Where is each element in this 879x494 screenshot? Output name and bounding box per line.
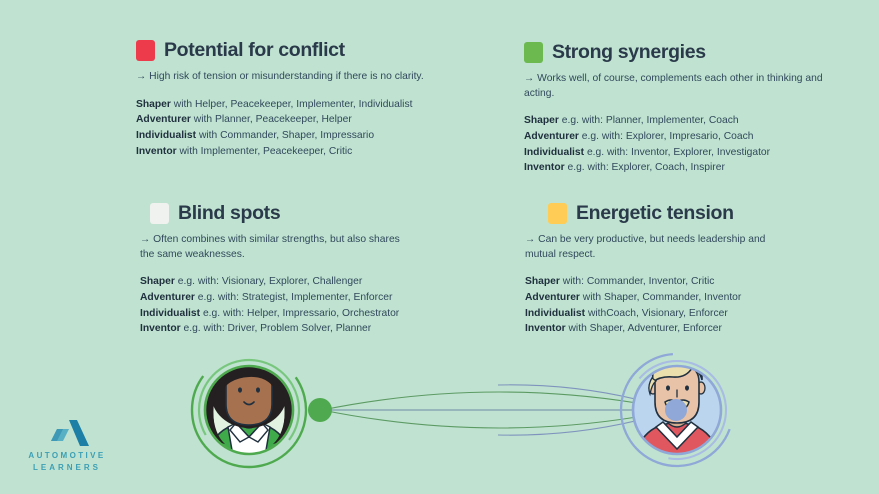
- list-item: Inventor e.g. with: Explorer, Coach, Ins…: [524, 160, 826, 176]
- list-item: Shaper with Helper, Peacekeeper, Impleme…: [136, 97, 424, 113]
- yellow-swatch: [548, 203, 567, 224]
- connector-lines: [322, 385, 675, 435]
- quadrant-pair-list: Shaper e.g. with: Planner, Implementer, …: [524, 113, 826, 176]
- green-swatch: [524, 42, 543, 63]
- role-detail: with Planner, Peacekeeper, Helper: [191, 114, 352, 125]
- role-name: Individualist: [525, 308, 585, 319]
- list-item: Individualist e.g. with: Inventor, Explo…: [524, 145, 826, 161]
- role-name: Individualist: [136, 130, 196, 141]
- role-detail: e.g. with: Helper, Impressario, Orchestr…: [200, 308, 399, 319]
- role-name: Individualist: [140, 308, 200, 319]
- automotive-learners-logo: AUTOMOTIVE LEARNERS: [24, 418, 110, 473]
- list-item: Inventor e.g. with: Driver, Problem Solv…: [140, 321, 412, 337]
- role-detail: e.g. with: Planner, Implementer, Coach: [559, 115, 739, 126]
- logo-mark-icon: [43, 418, 91, 450]
- role-detail: with Commander, Shaper, Impressario: [196, 130, 374, 141]
- role-name: Adventurer: [525, 292, 580, 303]
- quadrant-pair-list: Shaper e.g. with: Visionary, Explorer, C…: [140, 274, 412, 337]
- quadrant-energetic-tension: Energetic tension → Can be very producti…: [548, 203, 797, 337]
- white-swatch: [150, 203, 169, 224]
- role-detail: with Implementer, Peacekeeper, Critic: [177, 146, 353, 157]
- quadrant-pair-list: Shaper with Helper, Peacekeeper, Impleme…: [136, 97, 424, 160]
- role-name: Shaper: [524, 115, 559, 126]
- role-detail: e.g. with: Visionary, Explorer, Challeng…: [175, 276, 362, 287]
- quadrant-header: Potential for conflict: [136, 40, 424, 61]
- role-name: Inventor: [524, 162, 565, 173]
- logo-text-line2: LEARNERS: [24, 462, 110, 474]
- role-name: Shaper: [525, 276, 560, 287]
- list-item: Adventurer with Planner, Peacekeeper, He…: [136, 112, 424, 128]
- role-name: Adventurer: [140, 292, 195, 303]
- role-detail: withCoach, Visionary, Enforcer: [585, 308, 728, 319]
- list-item: Individualist e.g. with: Helper, Impress…: [140, 306, 412, 322]
- slide-canvas: Potential for conflict → High risk of te…: [0, 0, 879, 494]
- list-item: Shaper e.g. with: Planner, Implementer, …: [524, 113, 826, 129]
- quadrant-title: Energetic tension: [576, 204, 734, 224]
- role-detail: e.g. with: Explorer, Impresario, Coach: [579, 131, 754, 142]
- role-detail: e.g. with: Strategist, Implementer, Enfo…: [195, 292, 392, 303]
- role-detail: with Helper, Peacekeeper, Implementer, I…: [171, 99, 413, 110]
- list-item: Individualist with Commander, Shaper, Im…: [136, 128, 424, 144]
- quadrant-title: Potential for conflict: [164, 41, 345, 61]
- connection-illustration: [0, 338, 879, 494]
- quadrant-potential-for-conflict: Potential for conflict → High risk of te…: [136, 40, 424, 159]
- quadrant-strong-synergies: Strong synergies → Works well, of course…: [524, 42, 826, 176]
- quadrant-header: Energetic tension: [548, 203, 797, 224]
- role-name: Adventurer: [136, 114, 191, 125]
- list-item: Adventurer e.g. with: Explorer, Impresar…: [524, 129, 826, 145]
- role-name: Adventurer: [524, 131, 579, 142]
- role-detail: e.g. with: Inventor, Explorer, Investiga…: [584, 147, 770, 158]
- role-detail: with Shaper, Adventurer, Enforcer: [566, 323, 722, 334]
- role-detail: e.g. with: Driver, Problem Solver, Plann…: [181, 323, 372, 334]
- quadrant-subtitle: → High risk of tension or misunderstandi…: [136, 70, 424, 85]
- quadrant-blind-spots: Blind spots → Often combines with simila…: [150, 203, 412, 337]
- left-connector-node: [308, 398, 332, 422]
- role-name: Shaper: [136, 99, 171, 110]
- role-name: Individualist: [524, 147, 584, 158]
- role-detail: e.g. with: Explorer, Coach, Inspirer: [565, 162, 725, 173]
- list-item: Adventurer e.g. with: Strategist, Implem…: [140, 290, 412, 306]
- role-name: Inventor: [140, 323, 181, 334]
- quadrant-header: Blind spots: [150, 203, 412, 224]
- logo-text-line1: AUTOMOTIVE: [24, 450, 110, 462]
- list-item: Shaper with: Commander, Inventor, Critic: [525, 274, 797, 290]
- quadrant-header: Strong synergies: [524, 42, 826, 63]
- right-connector-node: [665, 399, 687, 421]
- list-item: Shaper e.g. with: Visionary, Explorer, C…: [140, 274, 412, 290]
- role-name: Shaper: [140, 276, 175, 287]
- role-detail: with: Commander, Inventor, Critic: [560, 276, 715, 287]
- quadrant-pair-list: Shaper with: Commander, Inventor, Critic…: [525, 274, 797, 337]
- quadrant-subtitle: → Works well, of course, complements eac…: [524, 72, 826, 101]
- list-item: Inventor with Implementer, Peacekeeper, …: [136, 144, 424, 160]
- role-name: Inventor: [525, 323, 566, 334]
- quadrant-title: Strong synergies: [552, 43, 706, 63]
- role-detail: with Shaper, Commander, Inventor: [580, 292, 741, 303]
- role-name: Inventor: [136, 146, 177, 157]
- list-item: Individualist withCoach, Visionary, Enfo…: [525, 306, 797, 322]
- woman-avatar: [170, 338, 329, 489]
- quadrant-subtitle: → Can be very productive, but needs lead…: [525, 233, 797, 262]
- quadrant-subtitle: → Often combines with similar strengths,…: [140, 233, 412, 262]
- list-item: Inventor with Shaper, Adventurer, Enforc…: [525, 321, 797, 337]
- list-item: Adventurer with Shaper, Commander, Inven…: [525, 290, 797, 306]
- red-swatch: [136, 40, 155, 61]
- quadrant-title: Blind spots: [178, 204, 280, 224]
